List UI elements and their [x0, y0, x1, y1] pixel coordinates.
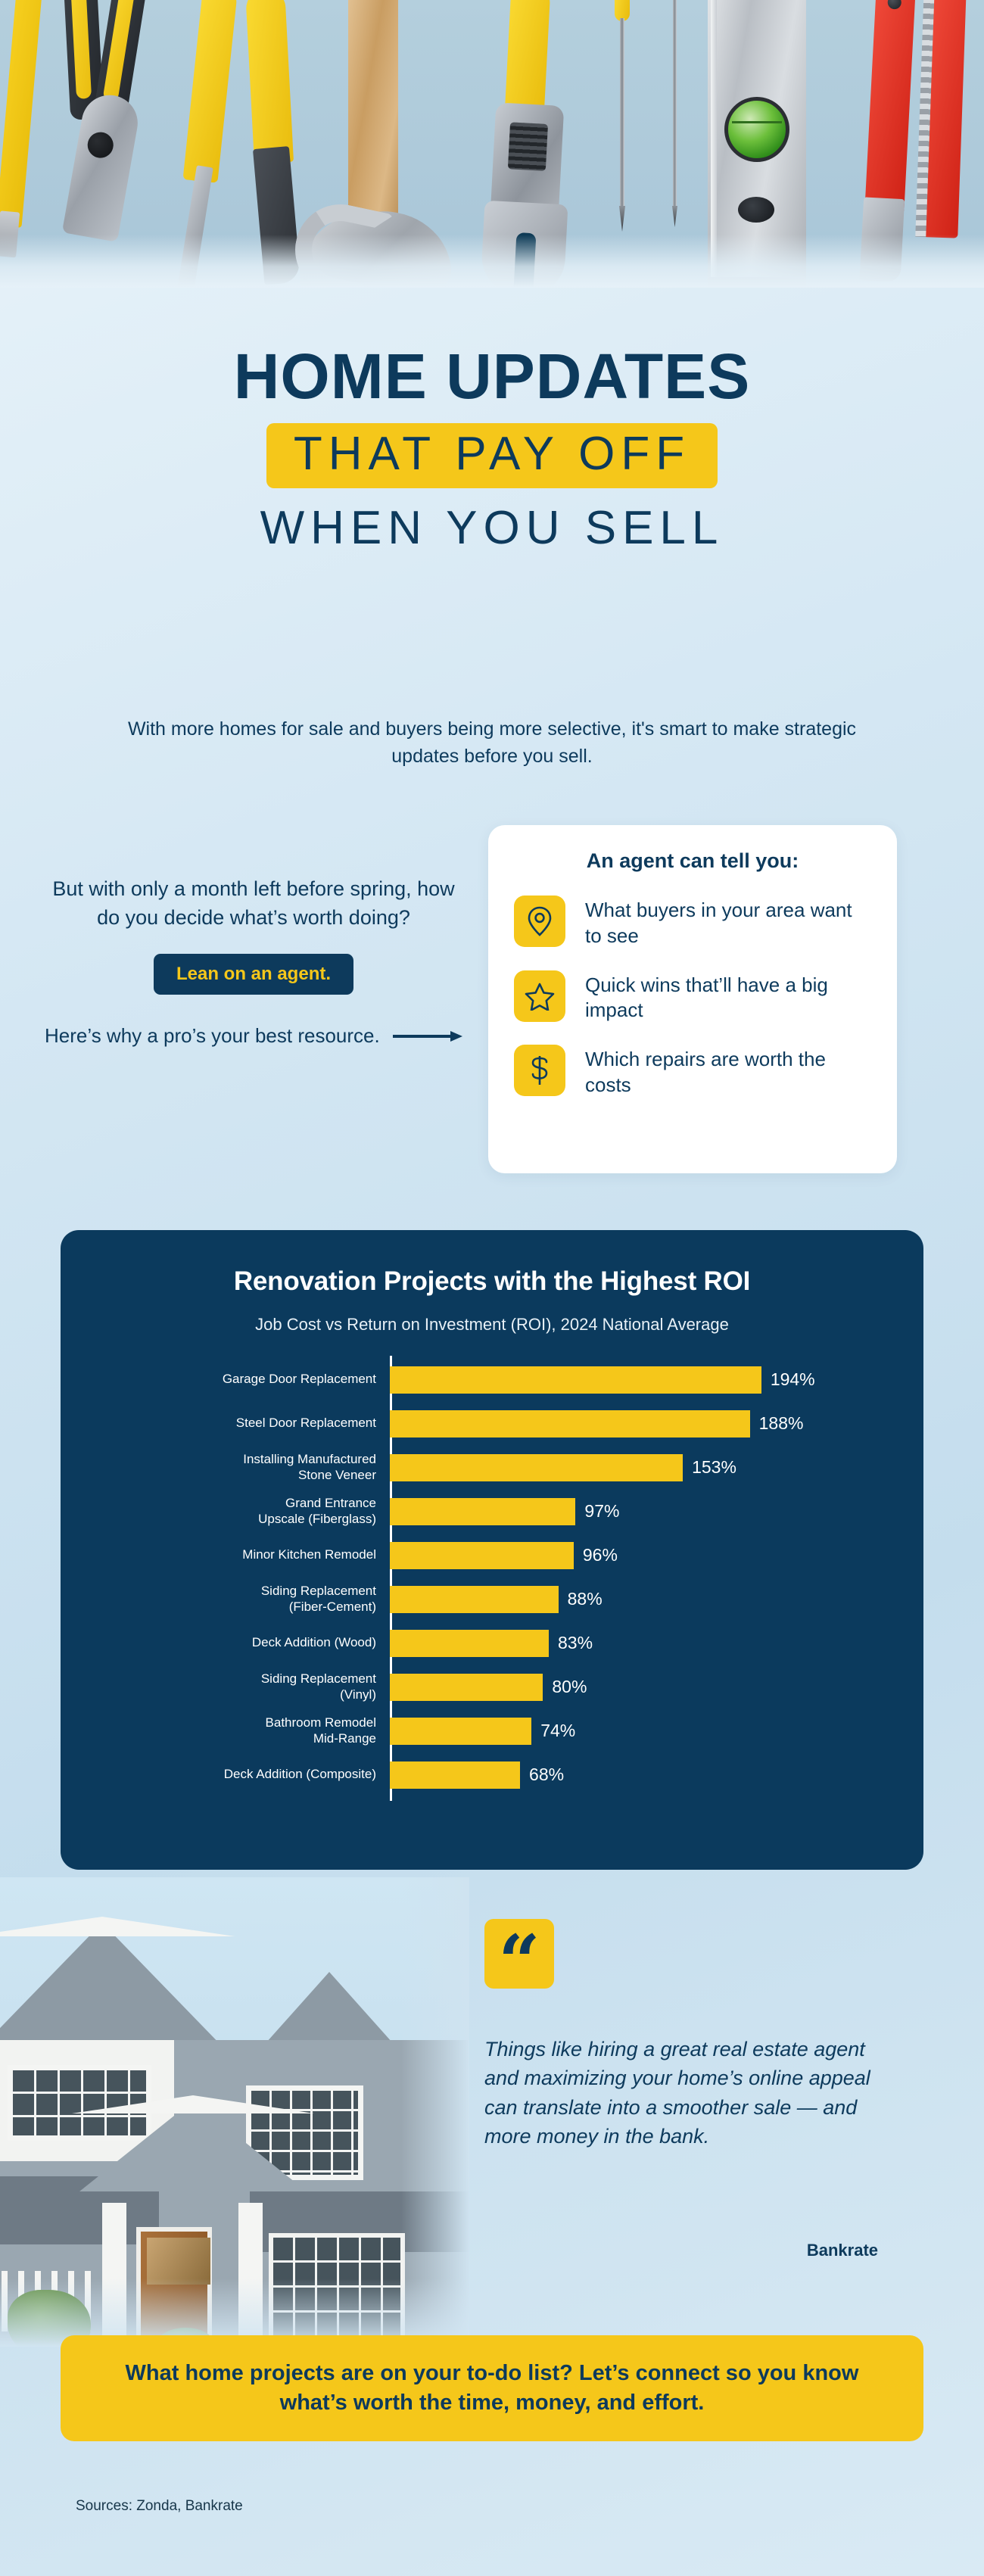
- chart-bar-label: Garage Door Replacement: [76, 1372, 390, 1387]
- hero-tools-photo: [0, 0, 984, 288]
- chart-bar-label: Siding Replacement(Fiber-Cement): [76, 1584, 390, 1614]
- chart-bar-track: 88%: [390, 1586, 923, 1613]
- chart-bar-row: Deck Addition (Composite)68%: [76, 1757, 923, 1793]
- box-cutter-icon: [245, 0, 294, 164]
- quote-mark-icon: “: [484, 1919, 554, 1989]
- pliers-icon: [48, 0, 163, 241]
- chart-bar-fill: [390, 1542, 574, 1569]
- cta-banner[interactable]: What home projects are on your to-do lis…: [61, 2335, 923, 2441]
- chart-bar-track: 188%: [390, 1410, 923, 1438]
- chart-bar-row: Deck Addition (Wood)83%: [76, 1625, 923, 1661]
- chart-bar-label: Minor Kitchen Remodel: [76, 1547, 390, 1562]
- hero-subtitle: With more homes for sale and buyers bein…: [114, 715, 870, 771]
- chart-bar-fill: [390, 1674, 543, 1701]
- chart-bar-value: 68%: [529, 1765, 564, 1785]
- chart-bar-label: Siding Replacement(Vinyl): [76, 1671, 390, 1702]
- chart-bar-track: 68%: [390, 1761, 923, 1789]
- roi-chart-card: Renovation Projects with the Highest ROI…: [61, 1230, 923, 1870]
- agent-benefit-item: What buyers in your area want to see: [514, 896, 871, 949]
- agent-benefit-label: Quick wins that’ll have a big impact: [585, 970, 871, 1024]
- dollar-sign-icon: [514, 1045, 565, 1096]
- star-icon: [514, 970, 565, 1022]
- agent-benefit-item: Which repairs are worth the costs: [514, 1045, 871, 1098]
- chart-bar-track: 153%: [390, 1454, 923, 1481]
- title-highlight: THAT PAY OFF: [266, 423, 718, 488]
- hero-title-block: HOME UPDATES THAT PAY OFF WHEN YOU SELL: [0, 344, 984, 552]
- chart-bar-row: Garage Door Replacement194%: [76, 1362, 923, 1397]
- chart-bar-label: Deck Addition (Wood): [76, 1635, 390, 1650]
- chart-bar-row: Bathroom RemodelMid-Range74%: [76, 1713, 923, 1749]
- chart-bar-label: Deck Addition (Composite): [76, 1767, 390, 1782]
- chart-bar-track: 96%: [390, 1542, 923, 1569]
- chart-bar-value: 153%: [692, 1457, 736, 1478]
- scriber-icon: [670, 0, 680, 220]
- chart-bar-fill: [390, 1718, 531, 1745]
- red-saw-icon: [923, 0, 966, 238]
- chart-bar-row: Installing ManufacturedStone Veneer153%: [76, 1450, 923, 1485]
- chart-bar-value: 194%: [771, 1369, 815, 1390]
- title-highlight-wrap: THAT PAY OFF: [0, 423, 984, 488]
- quote-source: Bankrate: [484, 2241, 878, 2260]
- awl-icon: [615, 0, 630, 216]
- agent-card-heading: An agent can tell you:: [514, 849, 871, 873]
- prompt-follow-up: Here’s why a pro’s your best resource.: [45, 1024, 380, 1047]
- house-exterior-photo: [0, 1877, 469, 2347]
- chart-bar-value: 80%: [552, 1677, 587, 1697]
- chart-bar-fill: [390, 1586, 559, 1613]
- chart-bar-label: Bathroom RemodelMid-Range: [76, 1715, 390, 1746]
- infographic-page: HOME UPDATES THAT PAY OFF WHEN YOU SELL …: [0, 0, 984, 2576]
- chart-subtitle: Job Cost vs Return on Investment (ROI), …: [61, 1315, 923, 1335]
- chart-bar-value: 96%: [583, 1545, 618, 1565]
- chart-bar-fill: [390, 1410, 750, 1438]
- chart-bar-fill: [390, 1454, 683, 1481]
- chart-bar-track: 80%: [390, 1674, 923, 1701]
- chart-bar-label: Grand EntranceUpscale (Fiberglass): [76, 1496, 390, 1526]
- chart-bars-container: Garage Door Replacement194%Steel Door Re…: [76, 1362, 923, 1793]
- right-arrow-icon: [393, 1030, 462, 1042]
- page-title: HOME UPDATES: [0, 344, 984, 408]
- agent-benefits-card: An agent can tell you: What buyers in yo…: [488, 825, 897, 1173]
- chart-bar-value: 74%: [540, 1721, 575, 1741]
- location-pin-icon: [514, 896, 565, 947]
- chart-plot-area: Garage Door Replacement194%Steel Door Re…: [61, 1362, 923, 1793]
- title-subline: WHEN YOU SELL: [0, 505, 984, 552]
- chart-bar-row: Siding Replacement(Fiber-Cement)88%: [76, 1581, 923, 1617]
- pry-bar-icon: [183, 0, 238, 183]
- chart-title: Renovation Projects with the Highest ROI: [61, 1266, 923, 1297]
- prompt-column: But with only a month left before spring…: [42, 874, 466, 1050]
- photo-gradient-fade: [0, 235, 984, 288]
- chart-bar-value: 83%: [558, 1633, 593, 1653]
- chart-bar-row: Grand EntranceUpscale (Fiberglass)97%: [76, 1494, 923, 1529]
- agent-benefit-label: What buyers in your area want to see: [585, 896, 871, 949]
- chart-bar-value: 188%: [759, 1413, 804, 1434]
- chart-bar-row: Minor Kitchen Remodel96%: [76, 1537, 923, 1573]
- chart-bar-row: Steel Door Replacement188%: [76, 1406, 923, 1441]
- lean-on-agent-pill[interactable]: Lean on an agent.: [154, 954, 353, 995]
- agent-benefit-label: Which repairs are worth the costs: [585, 1045, 871, 1098]
- cta-text: What home projects are on your to-do lis…: [101, 2359, 883, 2418]
- chart-bar-value: 97%: [584, 1501, 619, 1522]
- chart-bar-label: Installing ManufacturedStone Veneer: [76, 1452, 390, 1482]
- chart-bar-fill: [390, 1630, 549, 1657]
- chart-bar-label: Steel Door Replacement: [76, 1416, 390, 1431]
- prompt-question: But with only a month left before spring…: [42, 874, 466, 933]
- chart-bar-track: 83%: [390, 1630, 923, 1657]
- chart-bar-fill: [390, 1366, 761, 1394]
- sources-note: Sources: Zonda, Bankrate: [76, 2498, 243, 2515]
- prompt-follow-up-row: Here’s why a pro’s your best resource.: [42, 1022, 466, 1050]
- red-cutter-icon: [864, 0, 916, 214]
- utility-knife-yellow-icon: [0, 0, 42, 228]
- chart-bar-value: 88%: [568, 1589, 603, 1609]
- agent-benefit-item: Quick wins that’ll have a big impact: [514, 970, 871, 1024]
- chart-bar-fill: [390, 1761, 520, 1789]
- chart-bar-fill: [390, 1498, 575, 1525]
- chart-bar-track: 97%: [390, 1498, 923, 1525]
- chart-bar-row: Siding Replacement(Vinyl)80%: [76, 1669, 923, 1705]
- chart-bar-track: 74%: [390, 1718, 923, 1745]
- chart-bar-track: 194%: [390, 1366, 923, 1394]
- quote-text: Things like hiring a great real estate a…: [484, 2035, 878, 2151]
